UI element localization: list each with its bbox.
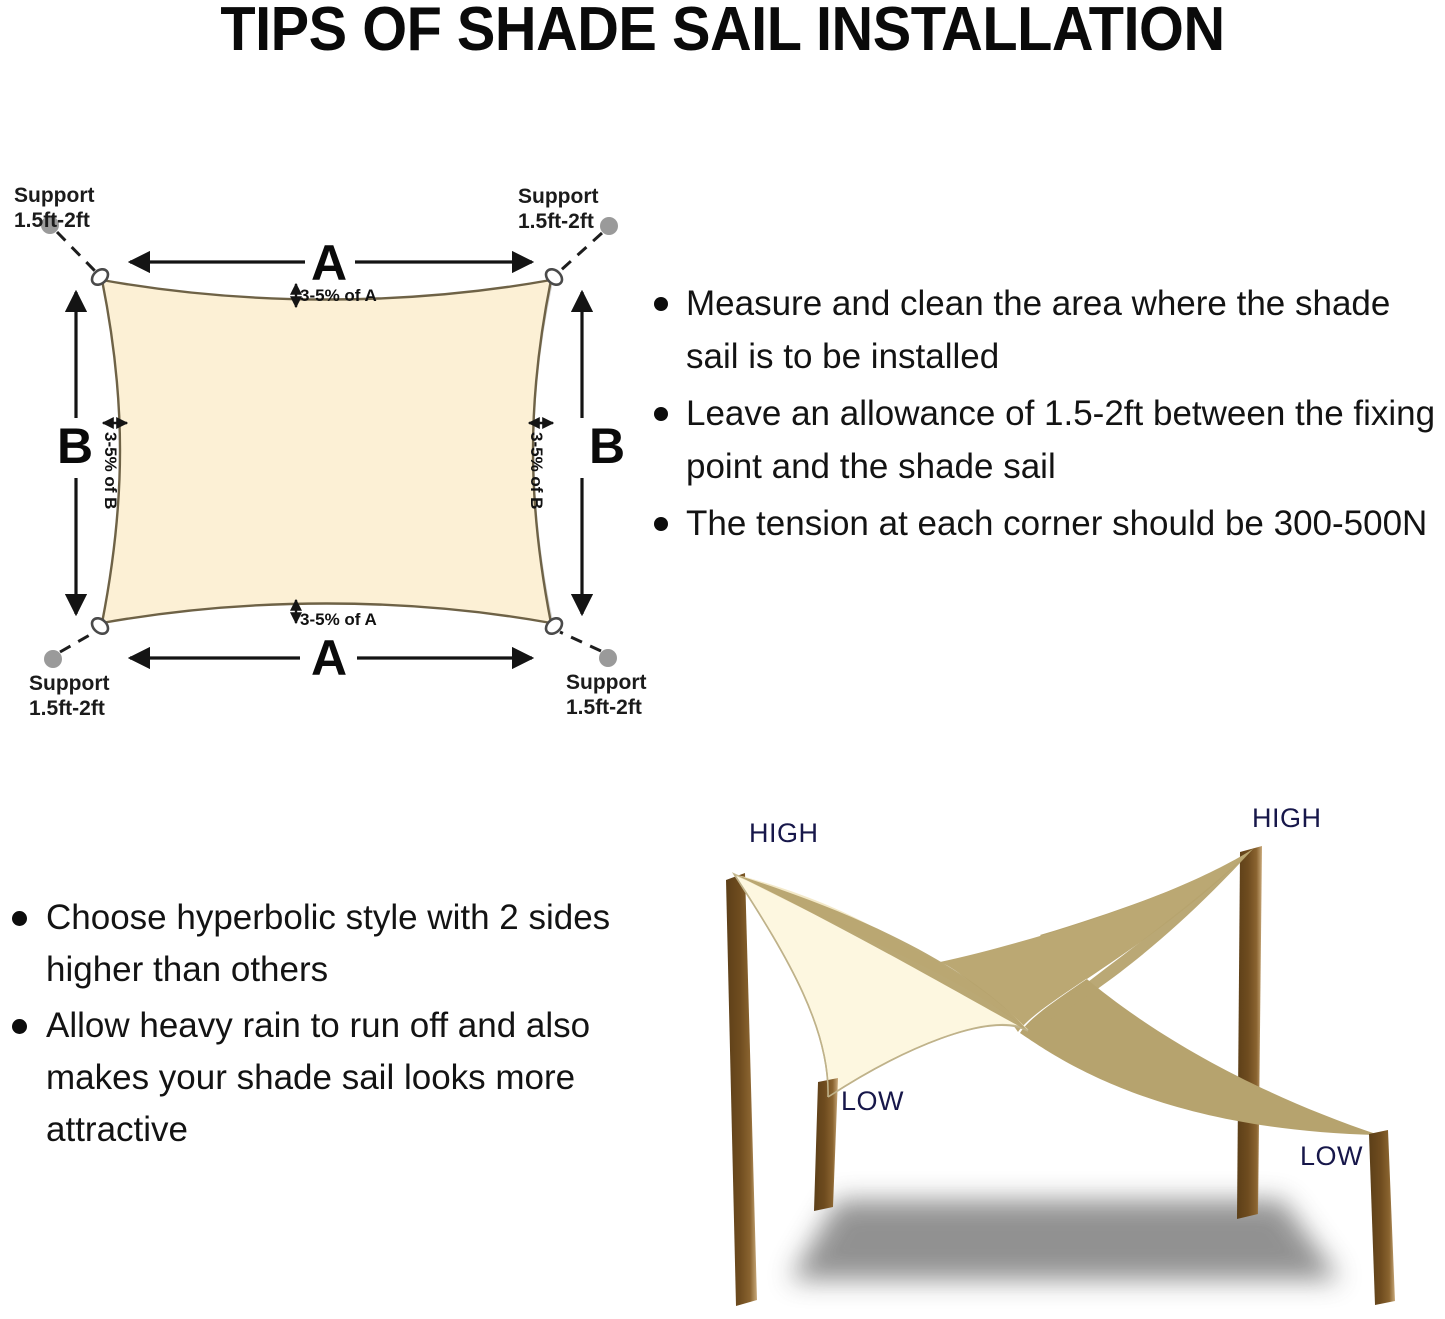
corner-grommets [89,266,565,637]
curvature-label-top: 3-5% of A [300,287,377,304]
curvature-arrows [103,284,553,623]
curvature-label-bottom: 3-5% of A [300,611,377,628]
dim-letter-a-top: A [311,238,347,288]
sail-shape [102,280,551,623]
list-item: Choose hyperbolic style with 2 sides hig… [8,892,618,996]
sail-panel-tan [1020,849,1379,1135]
support-label-line1: Support [518,185,598,208]
support-label-line2: 1.5ft-2ft [518,210,594,233]
sail-panel-cream [734,874,1028,1097]
ground-shadow [790,1200,1340,1280]
list-item: Leave an allowance of 1.5-2ft between th… [648,387,1445,493]
support-label-line2: 1.5ft-2ft [29,697,105,720]
style-tips-list: Choose hyperbolic style with 2 sides hig… [8,892,618,1160]
support-dot-bottom-left [44,650,62,668]
support-label-top-left: Support 1.5ft-2ft [14,183,94,233]
label-low-right: LOW [1300,1141,1363,1172]
post-high-right [1237,846,1262,1219]
label-high-right: HIGH [1252,803,1322,834]
dim-letter-b-left: B [57,421,93,471]
curvature-label-left: 3-5% of B [102,432,119,509]
sail-panel-tan-upper [940,849,1253,1032]
label-low-left: LOW [841,1086,904,1117]
list-item: Measure and clean the area where the sha… [648,277,1445,383]
post-low-left [814,1078,838,1211]
support-label-line2: 1.5ft-2ft [14,209,90,232]
dim-letter-b-right: B [589,421,625,471]
label-high-left: HIGH [749,818,819,849]
list-item: Allow heavy rain to run off and also mak… [8,1000,618,1156]
support-label-top-right: Support 1.5ft-2ft [518,184,598,234]
dim-letter-a-bottom: A [311,633,347,683]
support-label-bottom-right: Support 1.5ft-2ft [566,670,646,720]
post-low-right [1369,1130,1395,1305]
sail-edge-left [734,874,828,1097]
curvature-label-right: 3-5% of B [528,432,545,509]
installation-tips-list: Measure and clean the area where the sha… [648,277,1445,554]
sail-panel-cream-shade [734,874,1028,1030]
support-dot-bottom-right [599,649,617,667]
list-item: The tension at each corner should be 300… [648,497,1445,550]
support-label-line1: Support [14,184,94,207]
page-title: TIPS OF SHADE SAIL INSTALLATION [51,0,1395,65]
support-dot-top-right [600,217,618,235]
support-label-line2: 1.5ft-2ft [566,696,642,719]
infographic-page: TIPS OF SHADE SAIL INSTALLATION [0,0,1445,1319]
sail-center-band [734,849,1253,1031]
support-label-line1: Support [29,672,109,695]
support-label-bottom-left: Support 1.5ft-2ft [29,671,109,721]
support-label-line1: Support [566,671,646,694]
post-high-left [726,873,757,1306]
